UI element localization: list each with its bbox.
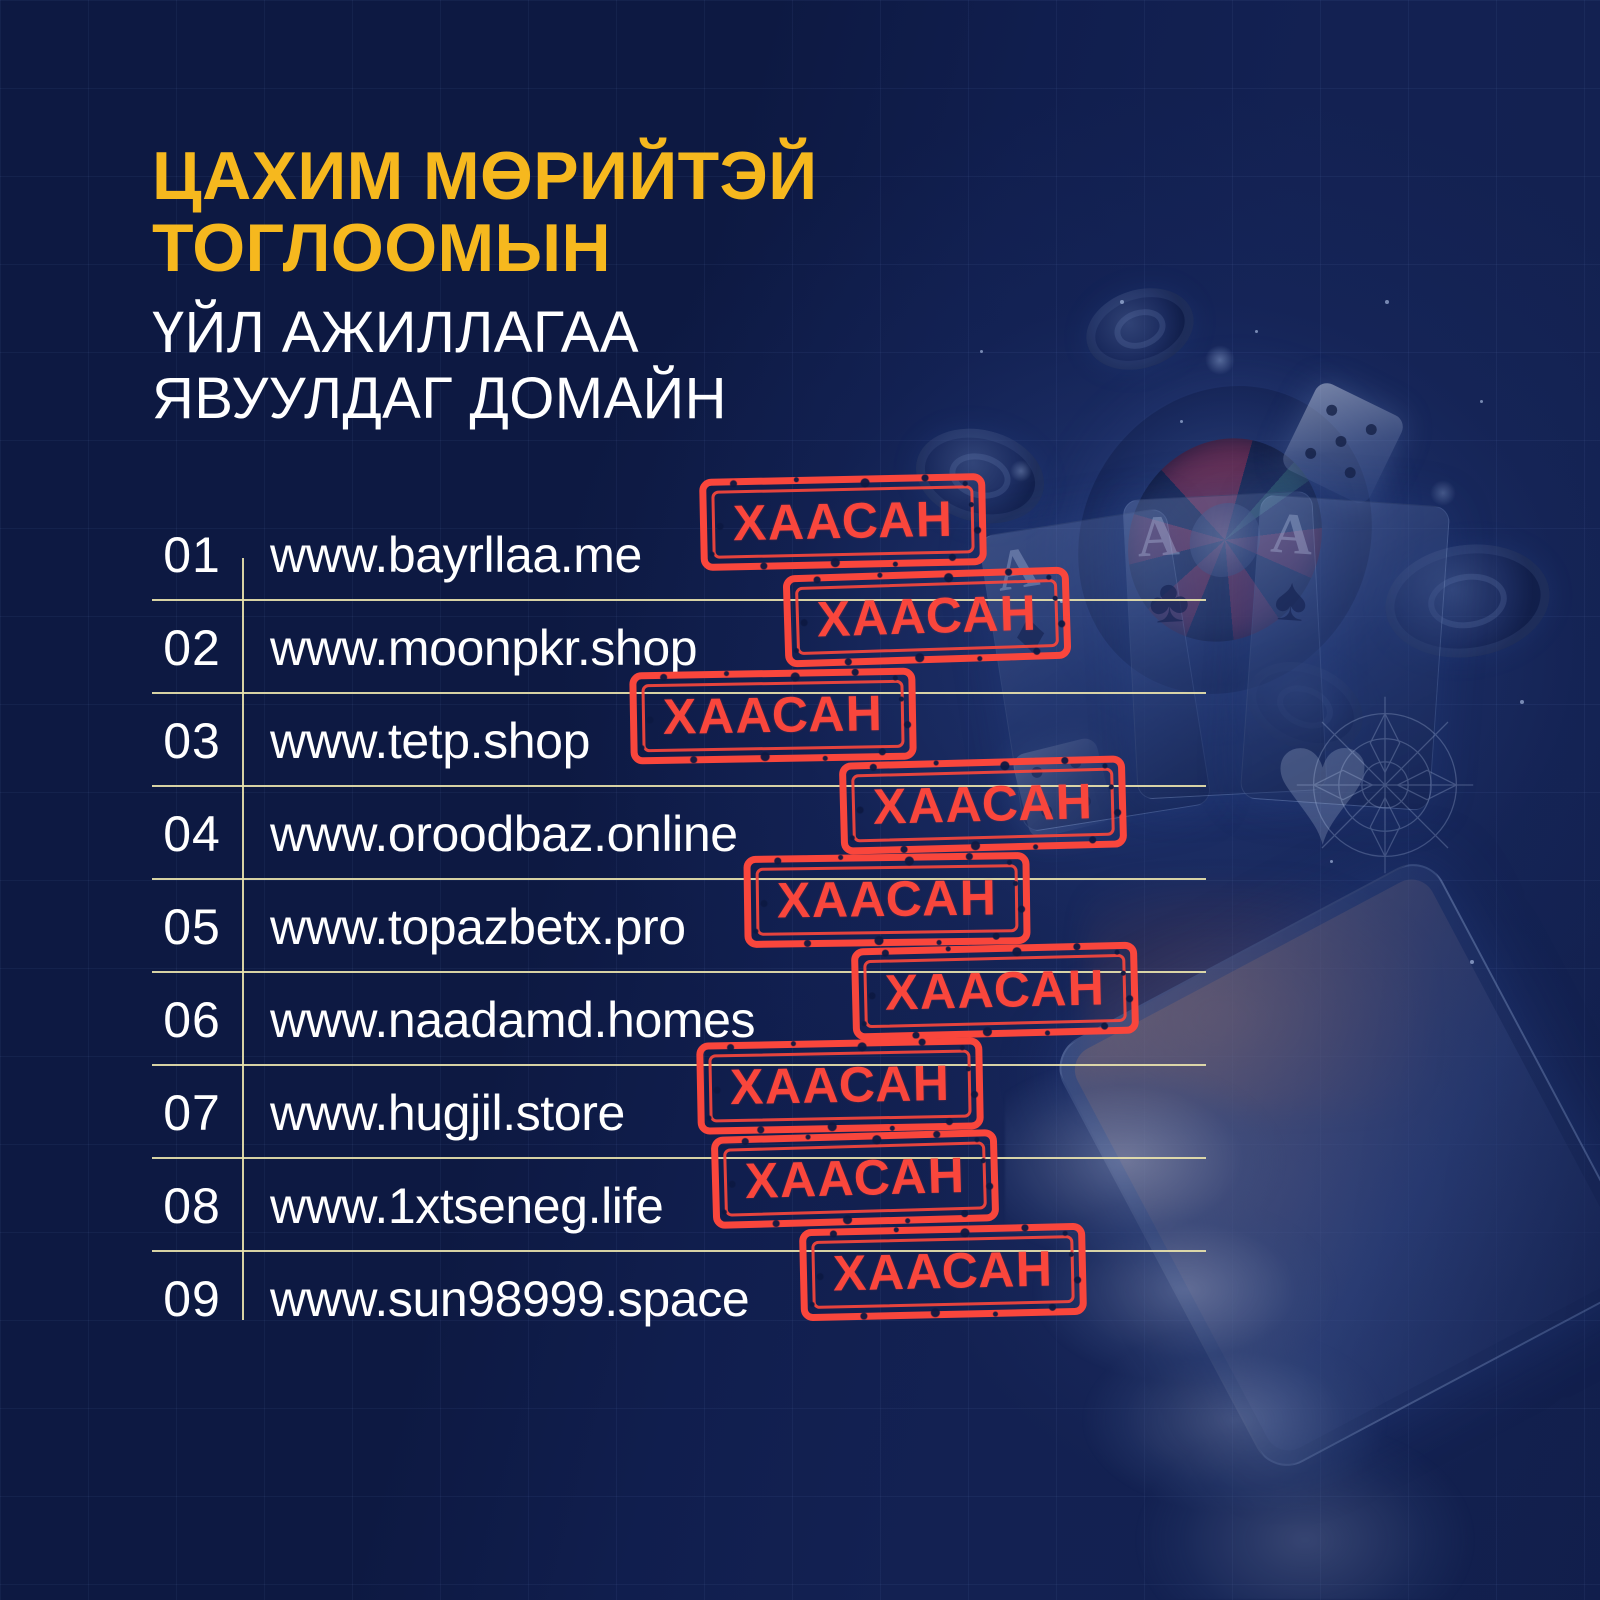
bokeh-dot	[1205, 345, 1235, 375]
blocked-stamp: ХААСАН	[629, 668, 917, 765]
row-number: 06	[152, 973, 232, 1066]
row-number: 03	[152, 694, 232, 787]
headline-line-4: ЯВУУЛДАГ ДОМАЙН	[152, 366, 912, 432]
domain-url: www.1xtseneg.life	[270, 1159, 663, 1252]
row-number: 04	[152, 787, 232, 880]
domain-url: www.hugjil.store	[270, 1066, 625, 1159]
poster-canvas: A ♦ A ♣ A ♠ ♥	[0, 0, 1600, 1600]
headline-block: ЦАХИМ МӨРИЙТЭЙ ТОГЛООМЫН ҮЙЛ АЖИЛЛАГАА Я…	[152, 140, 912, 431]
dice-icon	[1279, 379, 1407, 507]
domain-url: www.naadamd.homes	[270, 973, 755, 1066]
table-row: 04www.oroodbaz.onlineХААСАН	[152, 787, 1212, 880]
row-number: 08	[152, 1159, 232, 1252]
bokeh-dot	[1430, 480, 1456, 506]
domain-url: www.oroodbaz.online	[270, 787, 738, 880]
domain-url: www.bayrllaa.me	[270, 508, 642, 601]
blocked-stamp: ХААСАН	[699, 473, 987, 571]
headline-line-3: ҮЙЛ АЖИЛЛАГАА	[152, 300, 912, 366]
headline-line-1: ЦАХИМ МӨРИЙТЭЙ	[152, 140, 912, 212]
blocked-stamp: ХААСАН	[851, 942, 1140, 1041]
row-number: 01	[152, 508, 232, 601]
domain-list: 01www.bayrllaa.meХААСАН02www.moonpkr.sho…	[152, 508, 1212, 1345]
card-rank: A	[1269, 504, 1315, 565]
table-row: 06www.naadamd.homesХААСАН	[152, 973, 1212, 1066]
blocked-stamp: ХААСАН	[839, 755, 1128, 854]
bokeh-dot	[1010, 460, 1032, 482]
row-number: 09	[152, 1252, 232, 1345]
domain-url: www.topazbetx.pro	[270, 880, 686, 973]
headline-line-2: ТОГЛООМЫН	[152, 212, 912, 284]
row-number: 05	[152, 880, 232, 973]
blocked-stamp: ХААСАН	[711, 1129, 1000, 1229]
table-row: 09www.sun98999.spaceХААСАН	[152, 1252, 1212, 1345]
table-row: 07www.hugjil.storeХААСАН	[152, 1066, 1212, 1159]
playing-card-ace-spade: A ♠	[1240, 494, 1451, 812]
blocked-stamp: ХААСАН	[799, 1223, 1087, 1321]
blocked-stamp: ХААСАН	[783, 567, 1072, 668]
row-number: 02	[152, 601, 232, 694]
spade-suit-icon: ♠	[1272, 568, 1309, 632]
blocked-stamp: ХААСАН	[743, 852, 1031, 948]
blocked-stamp: ХААСАН	[696, 1037, 984, 1134]
poker-chip-icon	[1076, 275, 1205, 383]
domain-url: www.tetp.shop	[270, 694, 590, 787]
row-number: 07	[152, 1066, 232, 1159]
domain-url: www.sun98999.space	[270, 1252, 749, 1345]
